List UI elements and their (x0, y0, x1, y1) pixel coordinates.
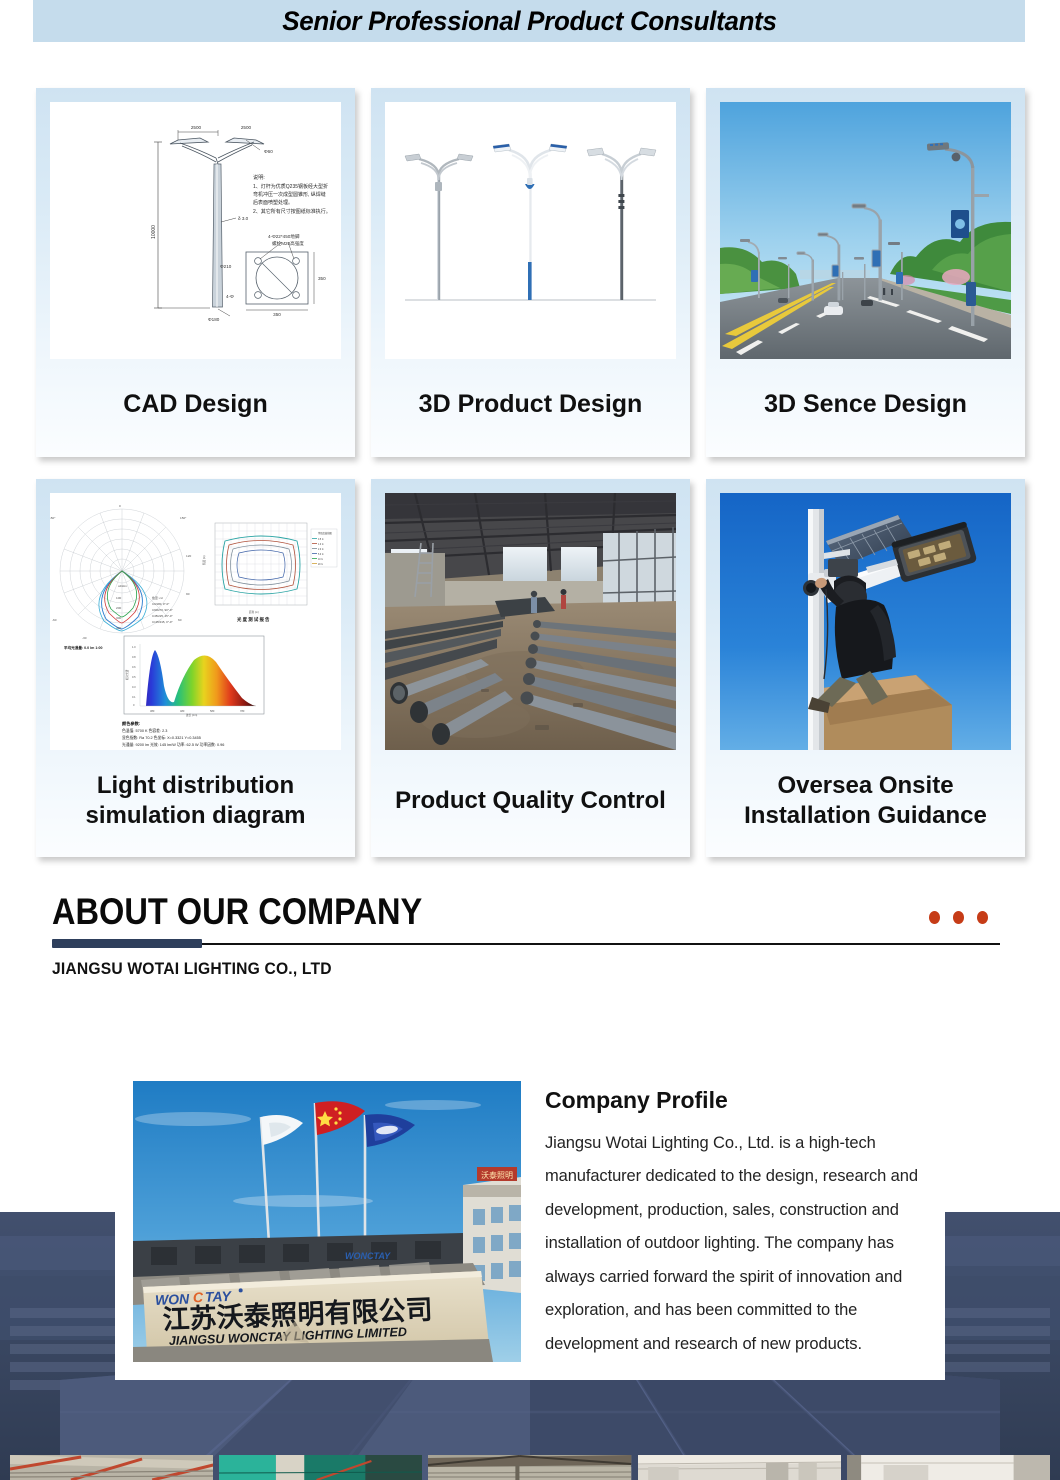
photometric-report-icon: -150°150° -120120 -9090 -6060 -3030 0 cd… (50, 493, 341, 750)
service-card-label: Product Quality Control (385, 750, 676, 857)
svg-text:0.8: 0.8 (132, 655, 136, 659)
dot-icon (977, 911, 988, 924)
svg-text:沃泰照明: 沃泰照明 (481, 1170, 513, 1180)
svg-text:色温: cd: 色温: cd (152, 595, 163, 600)
about-subtitle: JIANGSU WOTAI LIGHTING CO., LTD (52, 959, 924, 979)
svg-text:60: 60 (178, 618, 182, 622)
company-entrance-photo: 沃泰照明 (133, 1081, 521, 1362)
svg-text:0.5: 0.5 (132, 675, 136, 679)
installation-guidance-thumbnail (720, 493, 1011, 750)
svg-text:2.0 lx: 2.0 lx (318, 549, 324, 551)
street-scene-icon (720, 102, 1011, 359)
svg-text:C0/180, 0°-0°: C0/180, 0°-0° (152, 602, 169, 606)
svg-text:1、灯杆为优质Q235钢板经大型折: 1、灯杆为优质Q235钢板经大型折 (253, 183, 328, 190)
svg-text:2、其它所有尺寸按图纸标准执行。: 2、其它所有尺寸按图纸标准执行。 (253, 208, 331, 215)
svg-text:300: 300 (116, 616, 121, 620)
svg-text:C135/315, 0°-0°: C135/315, 0°-0° (152, 620, 173, 624)
3d-poles-icon (385, 102, 676, 359)
svg-text:C90/270, 90°-0°: C90/270, 90°-0° (152, 608, 173, 612)
svg-text:780: 780 (240, 709, 245, 713)
service-card-label: 3D Product Design (385, 359, 676, 457)
svg-text:0: 0 (119, 504, 121, 508)
svg-text:0.3: 0.3 (132, 685, 136, 689)
profile-heading: Company Profile (545, 1087, 927, 1114)
svg-text:后表面喷塑处理。: 后表面喷塑处理。 (253, 199, 293, 206)
profile-body: Jiangsu Wotai Lighting Co., Ltd. is a hi… (545, 1127, 927, 1361)
svg-text:4-Φ22*450地脚: 4-Φ22*450地脚 (268, 233, 300, 240)
workshop-red-truss-icon (10, 1455, 213, 1480)
company-profile-text: Company Profile Jiangsu Wotai Lighting C… (545, 1081, 927, 1362)
svg-text:-30: -30 (82, 636, 87, 640)
page-banner: Senior Professional Product Consultants (33, 0, 1025, 42)
svg-text:380: 380 (150, 709, 155, 713)
cad-design-thumbnail: 10000 2500 2500 Φ60 δ 3.0 Φ180 说明: 1、灯杆为… (50, 102, 341, 359)
workshop-thumbnail[interactable] (10, 1455, 213, 1480)
svg-text:相对光谱: 相对光谱 (125, 669, 129, 680)
svg-text:2500: 2500 (241, 125, 252, 130)
svg-text:480: 480 (180, 709, 185, 713)
service-card-light-distribution[interactable]: -150°150° -120120 -9090 -6060 -3030 0 cd… (36, 479, 355, 857)
svg-text:-60: -60 (52, 618, 57, 622)
svg-text:1.0 lx: 1.0 lx (318, 544, 324, 546)
quality-control-thumbnail (385, 493, 676, 750)
workshop-thumbnail[interactable] (428, 1455, 631, 1480)
dot-icon (953, 911, 964, 924)
svg-text:显色指数: Ra 70.2 色坐标: X=0.332: 显色指数: Ra 70.2 色坐标: X=0.3321 Y=0.3455 (122, 735, 201, 740)
svg-text:光通量: 9200 lm 光效: 145 lm/W: 光通量: 9200 lm 光效: 145 lm/W 功率: 62.5 W 功率因… (122, 742, 224, 747)
workshop-thumbnail[interactable] (638, 1455, 841, 1480)
3d-scene-design-thumbnail (720, 102, 1011, 359)
svg-text:弯机冲压一次成型圆锥形, 纵焊缝: 弯机冲压一次成型圆锥形, 纵焊缝 (253, 191, 326, 198)
banner-title: Senior Professional Product Consultants (282, 6, 776, 37)
svg-text:20 lx: 20 lx (318, 564, 324, 566)
svg-text:400: 400 (116, 626, 121, 630)
svg-text:5.0 lx: 5.0 lx (318, 554, 324, 556)
svg-text:1.0: 1.0 (132, 645, 136, 649)
service-card-label: Oversea Onsite Installation Guidance (720, 750, 1011, 857)
svg-text:350: 350 (318, 276, 326, 281)
svg-text:10000: 10000 (151, 225, 157, 239)
workshop-thumbnail[interactable] (219, 1455, 422, 1480)
svg-text:颜色参数:: 颜色参数: (122, 720, 140, 727)
service-card-label: Light distribution simulation diagram (50, 750, 341, 857)
service-card-installation-guidance[interactable]: Oversea Onsite Installation Guidance (706, 479, 1025, 857)
service-card-grid: 10000 2500 2500 Φ60 δ 3.0 Φ180 说明: 1、灯杆为… (36, 88, 1026, 857)
svg-text:平均光通量: 0.0 lm 1:00: 平均光通量: 0.0 lm 1:00 (64, 645, 103, 650)
workshop-thumbnail-strip (0, 1455, 1060, 1480)
svg-text:2500: 2500 (191, 125, 202, 130)
dot-icon (929, 911, 940, 924)
factory-interior-icon (385, 493, 676, 750)
svg-text:说明:: 说明: (253, 173, 265, 181)
svg-text:350: 350 (273, 312, 281, 317)
svg-text:δ 3.0: δ 3.0 (238, 216, 249, 221)
svg-text:色温值: 5700 K 色容差: 2.3: 色温值: 5700 K 色容差: 2.3 (122, 728, 167, 733)
3d-product-design-thumbnail (385, 102, 676, 359)
about-heading: ABOUT OUR COMPANY (52, 893, 886, 932)
decorative-dots (929, 911, 988, 924)
workshop-white-hall-icon (638, 1455, 841, 1480)
svg-text:cd/klm: cd/klm (118, 584, 127, 588)
service-card-3d-scene-design[interactable]: 3D Sence Design (706, 88, 1025, 457)
service-card-3d-product-design[interactable]: 3D Product Design (371, 88, 690, 457)
svg-text:C45/225, 45°-0°: C45/225, 45°-0° (152, 614, 173, 618)
workshop-green-wall-icon (219, 1455, 422, 1480)
workshop-brown-roof-icon (428, 1455, 631, 1480)
service-card-quality-control[interactable]: Product Quality Control (371, 479, 690, 857)
company-profile-card: 沃泰照明 (115, 1063, 945, 1380)
workshop-thumbnail[interactable] (847, 1455, 1050, 1480)
svg-text:Φ180: Φ180 (208, 317, 220, 322)
svg-text:120: 120 (186, 554, 191, 558)
svg-text:90: 90 (186, 592, 190, 596)
service-card-cad-design[interactable]: 10000 2500 2500 Φ60 δ 3.0 Φ180 说明: 1、灯杆为… (36, 88, 355, 457)
svg-text:-150°: -150° (50, 516, 56, 520)
divider-accent-bar (52, 939, 202, 948)
solar-light-install-icon (720, 493, 1011, 750)
light-distribution-thumbnail: -150°150° -120120 -9090 -6060 -3030 0 cd… (50, 493, 341, 750)
svg-text:WONCTAY: WONCTAY (345, 1251, 391, 1261)
service-card-label: 3D Sence Design (720, 359, 1011, 457)
svg-text:100: 100 (116, 596, 121, 600)
svg-text:光 度 测 试 报 告: 光 度 测 试 报 告 (236, 616, 270, 623)
svg-text:螺栓M20高强度: 螺栓M20高强度 (272, 240, 304, 247)
svg-text:0.5 lx: 0.5 lx (318, 539, 324, 541)
svg-text:150°: 150° (180, 516, 187, 520)
workshop-gray-office-icon (847, 1455, 1050, 1480)
about-divider (52, 939, 1000, 948)
svg-text:波长 (nm): 波长 (nm) (186, 713, 197, 717)
about-section: ABOUT OUR COMPANY JIANGSU WOTAI LIGHTING… (52, 893, 1000, 979)
service-card-label: CAD Design (50, 359, 341, 457)
svg-text:4-Φ: 4-Φ (226, 294, 234, 299)
svg-text:0.6: 0.6 (132, 665, 136, 669)
company-sign-photo-icon: 沃泰照明 (133, 1081, 521, 1362)
svg-text:Φ210: Φ210 (220, 264, 232, 269)
svg-text:580: 580 (210, 709, 215, 713)
svg-text:Φ60: Φ60 (264, 149, 273, 154)
svg-text:10 lx: 10 lx (318, 559, 324, 561)
svg-text:0.1: 0.1 (132, 695, 136, 699)
svg-text:距离 (m): 距离 (m) (249, 610, 259, 614)
svg-text:200: 200 (116, 606, 121, 610)
cad-drawing-icon: 10000 2500 2500 Φ60 δ 3.0 Φ180 说明: 1、灯杆为… (50, 102, 341, 359)
svg-text:照度 (lx): 照度 (lx) (202, 555, 206, 565)
